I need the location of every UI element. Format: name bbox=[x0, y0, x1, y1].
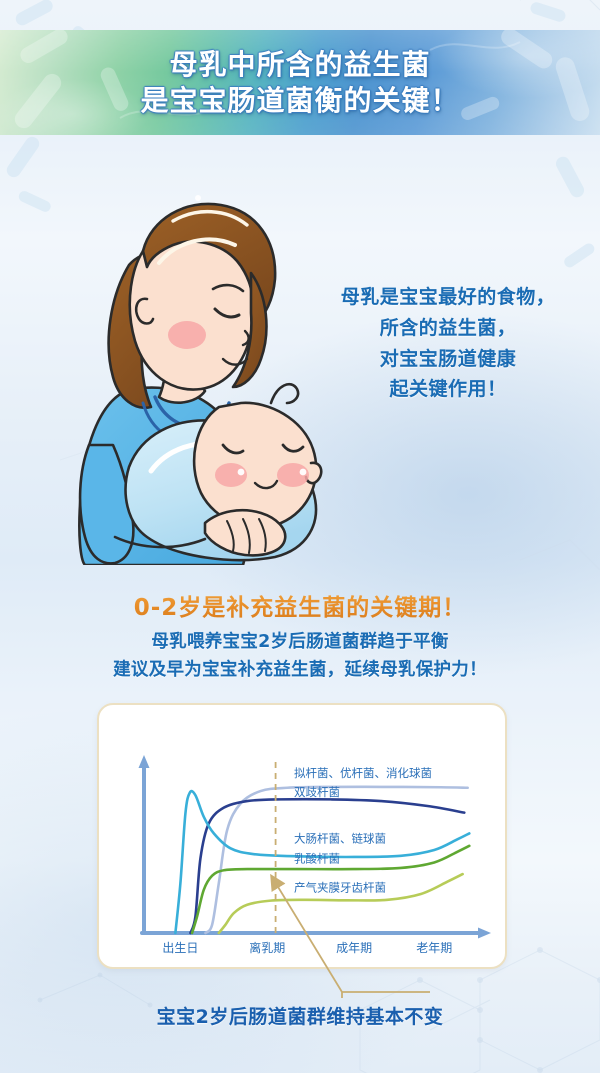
gut-flora-line-chart: 拟杆菌、优杆菌、消化球菌双歧杆菌大肠杆菌、链球菌乳酸杆菌产气夹膜牙齿杆菌 出生日… bbox=[99, 705, 505, 967]
chart-series-label-3: 大肠杆菌、链球菌 bbox=[294, 832, 386, 846]
intro-line-3: 对宝宝肠道健康 bbox=[318, 344, 578, 375]
chart-series-label-5: 产气夹膜牙齿杆菌 bbox=[294, 881, 386, 895]
infographic-page: 母乳中所含的益生菌 是宝宝肠道菌衡的关键！ bbox=[0, 0, 600, 1073]
chart-axes bbox=[139, 755, 492, 939]
banner-title-line-2: 是宝宝肠道菌衡的关键！ bbox=[140, 84, 459, 117]
intro-paragraph: 母乳是宝宝最好的食物， 所含的益生菌， 对宝宝肠道健康 起关键作用！ bbox=[318, 282, 578, 405]
chart-series-label-2: 双歧杆菌 bbox=[294, 785, 340, 799]
chart-xtick-4: 老年期 bbox=[416, 941, 452, 955]
banner-title: 母乳中所含的益生菌 是宝宝肠道菌衡的关键！ bbox=[0, 30, 600, 135]
chart-series-label-1: 拟杆菌、优杆菌、消化球菌 bbox=[294, 766, 432, 780]
mother-holding-baby-illustration bbox=[55, 145, 355, 565]
intro-line-4: 起关键作用！ bbox=[318, 374, 578, 405]
intro-line-1: 母乳是宝宝最好的食物， bbox=[318, 282, 578, 313]
chart-xtick-1: 出生日 bbox=[162, 941, 198, 955]
section-subheadline: 母乳喂养宝宝2岁后肠道菌群趋于平衡 建议及早为宝宝补充益生菌，延续母乳保护力！ bbox=[0, 628, 600, 685]
chart-caption: 宝宝2岁后肠道菌群维持基本不变 bbox=[0, 1002, 600, 1029]
header-banner: 母乳中所含的益生菌 是宝宝肠道菌衡的关键！ bbox=[0, 30, 600, 135]
banner-title-line-1: 母乳中所含的益生菌 bbox=[169, 48, 430, 81]
chart-xtick-2: 离乳期 bbox=[249, 940, 285, 955]
subheadline-line-2: 建议及早为宝宝补充益生菌，延续母乳保护力！ bbox=[0, 656, 600, 684]
chart-series-label-4: 乳酸杆菌 bbox=[294, 852, 340, 866]
gut-flora-chart-panel: 拟杆菌、优杆菌、消化球菌双歧杆菌大肠杆菌、链球菌乳酸杆菌产气夹膜牙齿杆菌 出生日… bbox=[97, 703, 507, 969]
intro-line-2: 所含的益生菌， bbox=[318, 313, 578, 344]
chart-xtick-3: 成年期 bbox=[336, 941, 372, 955]
subheadline-line-1: 母乳喂养宝宝2岁后肠道菌群趋于平衡 bbox=[0, 628, 600, 656]
section-headline: 0-2岁是补充益生菌的关键期！ bbox=[0, 588, 600, 622]
